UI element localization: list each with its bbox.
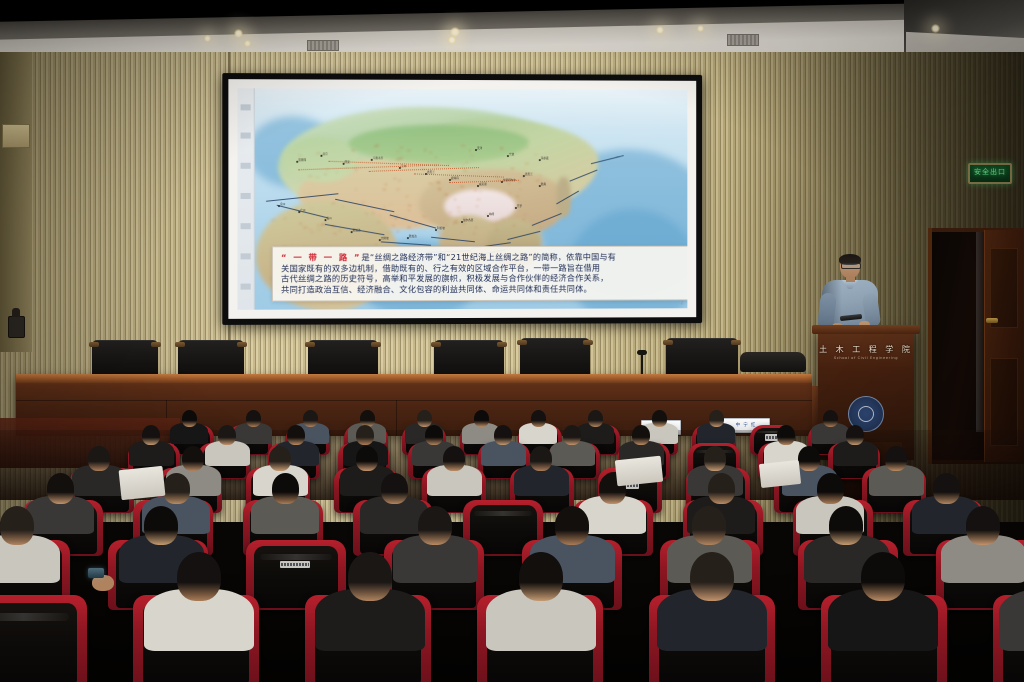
audience-head xyxy=(144,506,178,544)
relief-hatch xyxy=(466,162,468,163)
door-handle[interactable] xyxy=(986,318,998,323)
relief-hatch xyxy=(502,219,504,220)
relief-hatch xyxy=(299,223,303,224)
audience-head xyxy=(246,410,261,427)
caption-rest-1: 是“丝绸之路经济带”和“21世纪海上丝绸之路”的简称，依靠中国与有 xyxy=(361,252,616,262)
air-vent-grille xyxy=(727,34,759,46)
relief-hatch xyxy=(303,227,307,229)
relief-hatch xyxy=(397,231,399,232)
executive-chair xyxy=(520,338,590,378)
map-city-label: 广州 xyxy=(300,208,305,212)
projection-screen: 莫斯科北京西安乌鲁木齐兰州德黑兰鹿特丹威尼斯伊斯坦布尔德黑兰雅典开罗吶哩加尔各答… xyxy=(222,73,702,325)
eyeglasses-icon xyxy=(841,263,861,269)
relief-hatch xyxy=(318,229,321,230)
audience-head xyxy=(303,410,318,427)
relief-hatch xyxy=(463,169,467,171)
audience-head xyxy=(531,410,546,427)
relief-hatch xyxy=(384,183,387,185)
relief-hatch xyxy=(333,233,336,234)
recessed-downlight xyxy=(204,35,211,42)
relief-hatch xyxy=(429,151,432,153)
relief-hatch xyxy=(310,228,313,229)
door-leaf[interactable] xyxy=(984,230,1023,462)
map-city-label: 加尔各答 xyxy=(463,218,473,222)
map-city-label: 雅典 xyxy=(541,182,546,186)
audience-head xyxy=(690,552,734,601)
relief-hatch xyxy=(512,225,514,226)
audience-head xyxy=(632,425,650,445)
slide-thumbnail[interactable] xyxy=(241,163,251,169)
chair-armrest xyxy=(663,340,673,345)
audience-head xyxy=(474,410,489,427)
chair-armrest xyxy=(151,342,161,347)
institution-name-cn: 土 木 工 程 学 院 xyxy=(818,344,914,355)
screen-mat: 莫斯科北京西安乌鲁木齐兰州德黑兰鹿特丹威尼斯伊斯坦布尔德黑兰雅典开罗吶哩加尔各答… xyxy=(228,79,696,319)
chair-armrest xyxy=(731,340,741,345)
relief-hatch xyxy=(372,213,374,214)
audience-head xyxy=(0,506,34,544)
caption-line-1: “ 一 带 一 路 ”是“丝绸之路经济带”和“21世纪海上丝绸之路”的简称，依靠… xyxy=(281,252,684,263)
map-city-label: 泉州 xyxy=(280,202,285,206)
audience-head xyxy=(182,410,197,427)
caption-highlight: “ 一 带 一 路 ” xyxy=(281,252,361,262)
audience-head xyxy=(652,410,667,427)
audience-head xyxy=(443,446,465,471)
map-city-label: 福州 xyxy=(326,216,331,220)
caption-line-4: 共同打造政治互信、经济融合、文化包容的利益共同体、命运共同体和责任共同体。 xyxy=(281,283,684,295)
map-city-label: 乌鲁木齐 xyxy=(373,156,383,160)
chair-armrest xyxy=(237,342,247,347)
audience-head xyxy=(182,446,204,471)
slide-thumbnail[interactable] xyxy=(241,104,251,110)
recessed-downlight xyxy=(931,24,940,33)
relief-hatch xyxy=(395,218,397,219)
audience-head xyxy=(356,425,374,445)
audience-head xyxy=(418,506,452,544)
chair-armrest xyxy=(431,342,441,347)
executive-chair xyxy=(92,340,158,378)
relief-hatch xyxy=(437,230,441,232)
relief-hatch xyxy=(311,208,312,209)
relief-hatch xyxy=(375,244,378,245)
seat[interactable] xyxy=(0,595,87,682)
relief-hatch xyxy=(519,189,520,190)
audience-head xyxy=(563,425,581,445)
audience-head xyxy=(47,473,74,503)
chair-armrest xyxy=(89,342,99,347)
relief-hatch xyxy=(407,210,409,211)
map-city-label: 兰州 xyxy=(401,164,406,168)
relief-hatch xyxy=(475,227,477,228)
audience-head xyxy=(348,552,392,601)
air-vent-grille xyxy=(307,40,339,51)
seat-highlight xyxy=(474,511,532,515)
audience-head xyxy=(704,446,726,471)
wall-power-outlet xyxy=(8,316,25,338)
executive-chair xyxy=(666,338,738,378)
audience-head xyxy=(966,506,1000,544)
recessed-downlight xyxy=(656,26,664,34)
handout-paper xyxy=(759,460,801,488)
audience-head xyxy=(708,473,735,503)
map-city-label: 吉隆坡 xyxy=(381,236,389,240)
relief-hatch xyxy=(388,233,389,234)
audience-head xyxy=(269,446,291,471)
chair-armrest xyxy=(517,340,527,345)
audience-head xyxy=(588,410,603,427)
handout-paper xyxy=(615,456,663,487)
relief-hatch xyxy=(376,144,379,145)
table-trim-line xyxy=(16,400,812,401)
smartphone[interactable] xyxy=(88,568,104,578)
audience-head xyxy=(142,425,160,445)
audience-head xyxy=(709,410,724,427)
chair-armrest xyxy=(371,342,381,347)
chair-armrest xyxy=(305,342,315,347)
audience-head xyxy=(163,473,190,503)
desk-microphone xyxy=(641,352,643,374)
audience-head xyxy=(846,425,864,445)
relief-hatch xyxy=(315,176,319,177)
projected-slide: 莫斯科北京西安乌鲁木齐兰州德黑兰鹿特丹威尼斯伊斯坦布尔德黑兰雅典开罗吶哩加尔各答… xyxy=(238,88,688,310)
relief-hatch xyxy=(271,220,273,221)
relief-hatch xyxy=(365,213,367,214)
map-city-label: 科伦坡 xyxy=(437,226,445,230)
lecture-hall-photo: 安全出口 莫斯科北京西安乌鲁木齐兰州德黑兰鹿特丹威尼斯伊斯坦布尔德黑兰雅典开罗吶… xyxy=(0,0,1024,682)
recessed-downlight xyxy=(234,29,243,38)
relief-hatch xyxy=(285,218,286,219)
black-bag xyxy=(740,352,806,372)
audience-head xyxy=(861,552,905,601)
audience-head xyxy=(817,473,844,503)
relief-hatch xyxy=(273,219,275,220)
map-city-label: 雅加达 xyxy=(409,234,417,238)
relief-hatch xyxy=(321,224,323,225)
slide-page-number: 2 xyxy=(681,300,684,306)
slide-thumbnail[interactable] xyxy=(241,193,251,199)
map-city-label: 威尼斯 xyxy=(479,182,487,186)
executive-chair xyxy=(178,340,244,378)
slide-thumbnail-rail xyxy=(238,88,255,310)
relief-hatch xyxy=(312,215,314,216)
executive-chair xyxy=(308,340,378,378)
relief-hatch xyxy=(379,215,381,216)
audience-head xyxy=(519,552,563,601)
seat-number-tag xyxy=(765,434,778,441)
map-city-label: 开罗 xyxy=(517,204,522,208)
audience-head xyxy=(555,506,589,544)
audience-head xyxy=(933,473,960,503)
relief-hatch xyxy=(511,196,512,197)
slide-caption-box: “ 一 带 一 路 ”是“丝绸之路经济带”和“21世纪海上丝绸之路”的简称，依靠… xyxy=(272,246,687,302)
audience-head xyxy=(829,506,863,544)
emergency-exit-sign: 安全出口 xyxy=(968,163,1012,184)
relief-hatch xyxy=(479,190,482,191)
slide-thumbnail[interactable] xyxy=(241,223,251,229)
relief-hatch xyxy=(459,223,460,224)
audience-head xyxy=(798,446,820,471)
relief-hatch xyxy=(455,220,457,221)
relief-hatch xyxy=(338,229,341,231)
desk-microphone-head xyxy=(637,350,647,355)
audience-head xyxy=(494,425,512,445)
handout-paper xyxy=(119,466,166,500)
map-city-label: 德黑兰 xyxy=(525,172,533,176)
map-city-label: 西安 xyxy=(345,160,350,164)
seat-highlight xyxy=(0,613,69,620)
executive-chair xyxy=(434,340,504,378)
lectern-signage: 土 木 工 程 学 院 School of Civil Engineering xyxy=(818,344,914,360)
map-city-label: 北京 xyxy=(322,152,327,156)
map-city-label: 伊斯坦布尔 xyxy=(503,178,516,182)
audience-head xyxy=(177,552,221,601)
audience-head xyxy=(272,473,299,503)
audience-head xyxy=(425,425,443,445)
map-city-label: 雅加达 xyxy=(353,228,361,232)
relief-hatch xyxy=(356,189,357,190)
relief-hatch xyxy=(461,144,465,145)
seat-highlight xyxy=(260,554,332,560)
audience-head xyxy=(777,425,795,445)
audience-head xyxy=(417,410,432,427)
relief-hatch xyxy=(457,211,461,212)
table-top-surface xyxy=(16,374,812,383)
relief-hatch xyxy=(476,206,478,207)
relief-hatch xyxy=(384,206,385,207)
audience-head xyxy=(885,446,907,471)
slide-thumbnail[interactable] xyxy=(241,253,251,259)
slide-thumbnail[interactable] xyxy=(241,284,251,290)
presenter xyxy=(818,255,880,335)
recessed-downlight xyxy=(448,36,456,44)
chair-armrest xyxy=(175,342,185,347)
slide-thumbnail[interactable] xyxy=(241,133,251,139)
relief-hatch xyxy=(382,188,385,190)
map-city-label: 吶哩 xyxy=(489,212,494,216)
audience-head xyxy=(823,410,838,427)
relief-hatch xyxy=(460,185,464,187)
relief-hatch xyxy=(309,176,313,177)
chair-armrest xyxy=(497,342,507,347)
wall-plaque xyxy=(2,124,30,148)
audience-head xyxy=(356,446,378,471)
audience-head xyxy=(692,506,726,544)
recessed-downlight xyxy=(244,40,251,47)
relief-hatch xyxy=(392,225,395,226)
map-city-label: 德黑兰 xyxy=(427,170,435,174)
relief-hatch xyxy=(378,222,380,223)
map-city-label: 宁波 xyxy=(509,152,514,156)
exit-sign-label: 安全出口 xyxy=(974,168,1006,178)
relief-hatch xyxy=(424,149,426,150)
chair-armrest xyxy=(583,340,593,345)
audience-head xyxy=(287,425,305,445)
recessed-downlight xyxy=(697,25,704,32)
map-city-label: 天津 xyxy=(477,146,482,150)
map-city-label: 莫斯科 xyxy=(298,158,306,162)
map-city-label: 海参崴 xyxy=(541,156,549,160)
institution-name-en: School of Civil Engineering xyxy=(818,356,914,360)
audience-head xyxy=(381,473,408,503)
audience-head xyxy=(530,446,552,471)
lectern-top xyxy=(812,325,920,334)
door-upper-panel xyxy=(990,248,1018,328)
audience-head xyxy=(88,446,110,471)
audience-head xyxy=(218,425,236,445)
map-city-label: 鹿特丹 xyxy=(451,176,459,180)
seat-number-tag xyxy=(280,561,310,568)
